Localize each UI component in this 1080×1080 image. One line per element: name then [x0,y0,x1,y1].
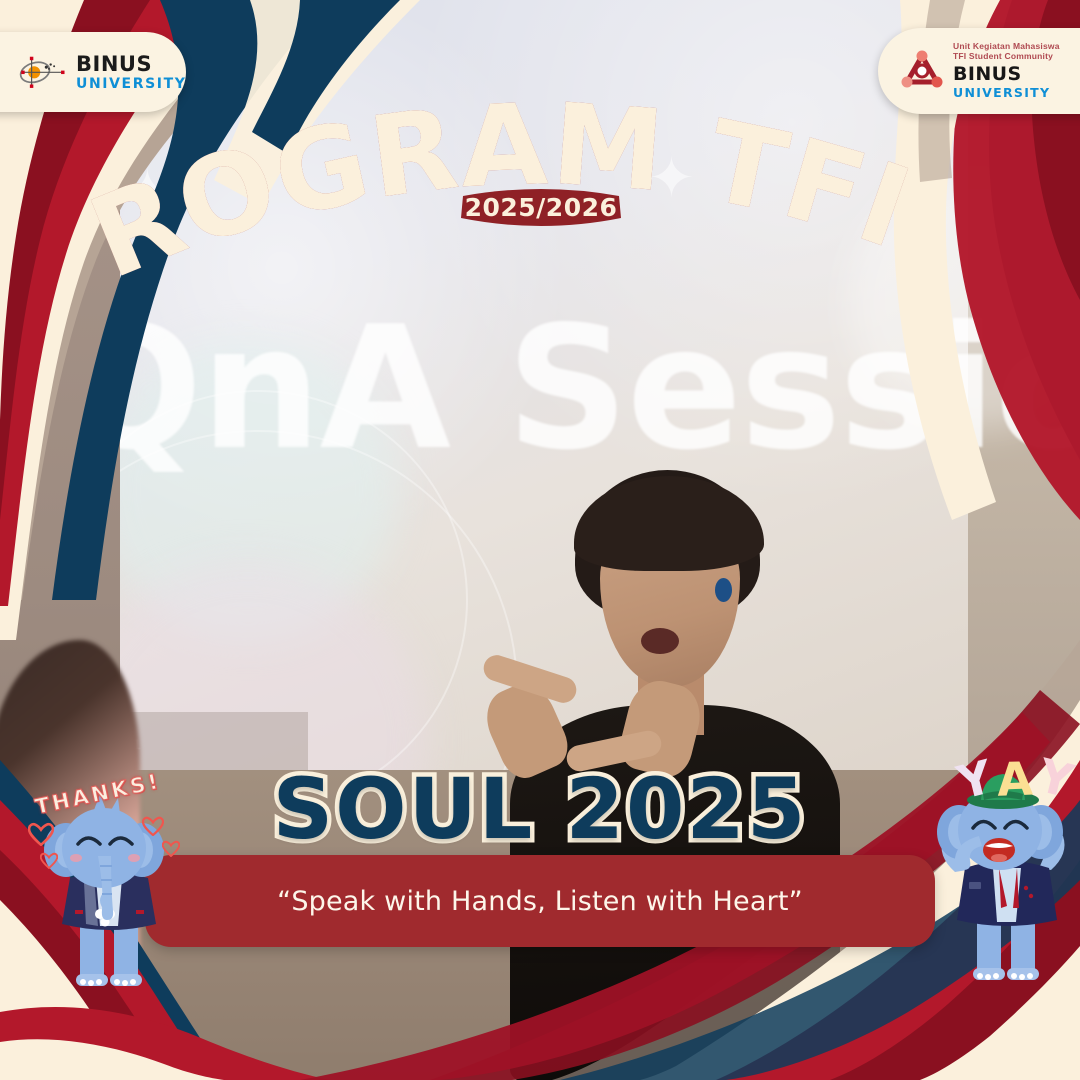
poster-canvas: ✦ ✦ QnA Sessio ‹ 7 / 31 [0,0,1080,1080]
binus-wordmark: BINUS UNIVERSITY [76,54,186,91]
speaker-earbud [715,578,732,602]
year-badge-label: 2025/2026 [455,182,627,234]
heart-icon-2 [40,852,58,869]
tfisc-binus-subname: UNIVERSITY [953,86,1060,100]
tfisc-wordmark: Unit Kegiatan Mahasiswa TFI Student Comm… [953,42,1060,100]
speaker-mouth [641,628,679,654]
tfisc-triangle-icon [900,49,944,93]
year-badge: 2025/2026 [455,182,627,234]
tagline-banner: “Speak with Hands, Listen with Heart” [145,855,935,947]
heart-icon-1 [28,822,54,846]
tagline-text: “Speak with Hands, Listen with Heart” [277,886,803,917]
tfisc-binus-name: BINUS [953,64,1060,86]
speaker-hair-front [574,476,764,571]
mascot-yay-label: YAY [958,752,1078,806]
projector-slide-text: QnA Sessio [58,290,1080,488]
heart-icon-3 [142,816,164,836]
binus-university-logo-pill: BINUS UNIVERSITY [0,32,186,112]
tfisc-logo-pill: Unit Kegiatan Mahasiswa TFI Student Comm… [878,28,1080,114]
binus-atom-icon [16,55,68,89]
heart-icon-4 [162,840,180,857]
yay-letter-y2: Y [1033,748,1080,810]
binus-name: BINUS [76,54,186,75]
tfisc-line2: TFI Student Community [953,52,1060,62]
binus-subname: UNIVERSITY [76,77,186,91]
